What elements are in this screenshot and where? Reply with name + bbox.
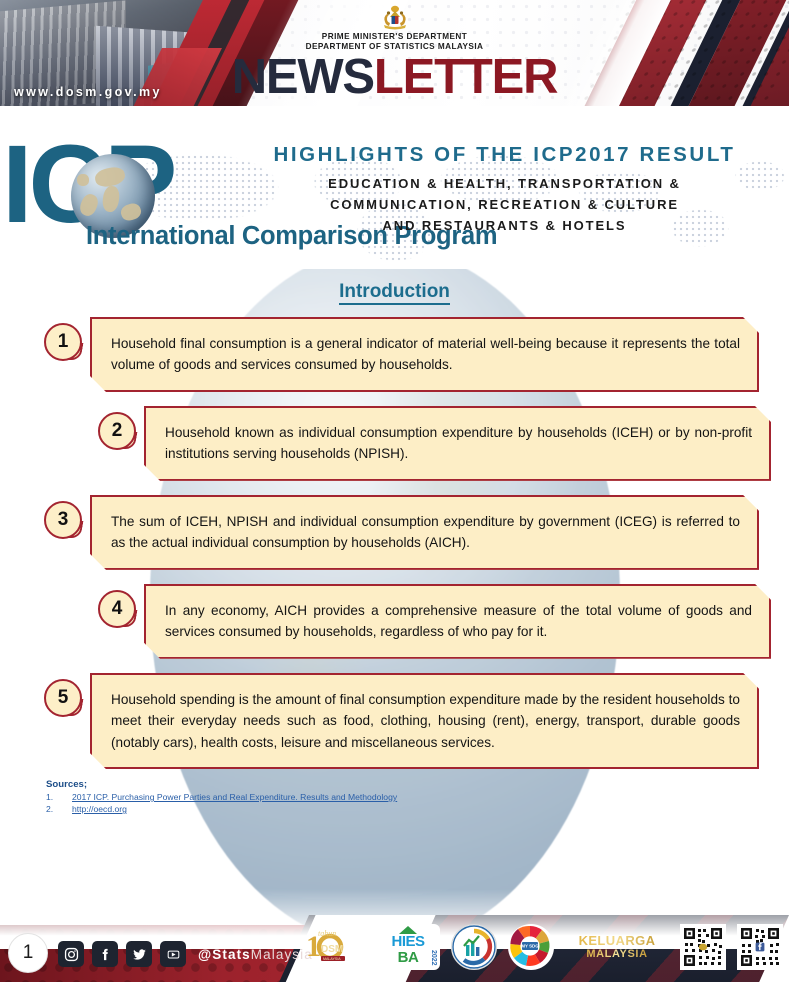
source-number-1: 1. — [46, 792, 72, 802]
twitter-icon[interactable] — [126, 941, 152, 967]
callout-list: 1 Household final consumption is a gener… — [0, 317, 789, 769]
callout-text-1: Household final consumption is a general… — [90, 317, 759, 392]
callout-number-1: 1 — [44, 323, 82, 361]
icp-subtitle-2: COMMUNICATION, RECREATION & CULTURE — [228, 194, 781, 215]
callout-text-2: Household known as individual consumptio… — [144, 406, 771, 481]
facebook-icon[interactable] — [92, 941, 118, 967]
callout-number-5: 5 — [44, 679, 82, 717]
callout-number-badge-4: 4 — [98, 590, 142, 630]
callout-item-5: 5 Household spending is the amount of fi… — [44, 673, 759, 769]
malaysia-coat-of-arms-icon — [378, 4, 412, 30]
social-handle-bold: @Stats — [198, 947, 251, 962]
newsletter-title-letter: LETTER — [374, 50, 557, 104]
header-center-block: PRIME MINISTER'S DEPARTMENT DEPARTMENT O… — [0, 4, 789, 101]
newsletter-title: NEWSLETTER — [0, 54, 789, 101]
social-handle: @StatsMalaysia — [198, 947, 313, 962]
icp-banner: ICP International Comparison Program HIG… — [0, 136, 789, 269]
page-number: 1 — [8, 933, 48, 973]
keluarga-label: KELUARGA — [579, 934, 656, 947]
hies-ba-2022-logo: HIES BA 2022 — [376, 924, 440, 970]
callout-item-1: 1 Household final consumption is a gener… — [44, 317, 759, 392]
callout-number-2: 2 — [98, 412, 136, 450]
callout-number-badge-1: 1 — [44, 323, 88, 363]
callout-number-badge-3: 3 — [44, 501, 88, 541]
sdg-wheel-logo: MY SDG — [508, 924, 554, 970]
header-banner: www.dosm.gov.my — [0, 0, 789, 106]
icp-main-title: HIGHLIGHTS OF THE ICP2017 RESULT — [228, 142, 781, 168]
callout-item-4: 4 In any economy, AICH provides a compre… — [98, 584, 771, 659]
hies-roof-icon — [399, 926, 417, 934]
hies-label: HIES — [391, 935, 424, 949]
sources-heading: Sources; — [46, 779, 789, 790]
section-heading-text: Introduction — [339, 281, 450, 305]
qr-code-facebook[interactable] — [737, 924, 783, 970]
footer-logos: 1 tahun DSM MALAYSIA HIES BA 2022 — [303, 923, 783, 971]
callout-number-3: 3 — [44, 501, 82, 539]
qr-code-website[interactable] — [680, 924, 726, 970]
svg-text:MY SDG: MY SDG — [521, 943, 539, 948]
sources-block: Sources; 1. 2017 ICP. Purchasing Power P… — [46, 779, 789, 814]
dept-line-1: PRIME MINISTER'S DEPARTMENT — [0, 32, 789, 42]
icp-subtitle-1: EDUCATION & HEALTH, TRANSPORTATION & — [228, 173, 781, 194]
newsletter-page: www.dosm.gov.my — [0, 0, 789, 982]
keluarga-malaysia-logo: KELUARGA MALAYSIA — [565, 927, 669, 967]
callout-text-5: Household spending is the amount of fina… — [90, 673, 759, 769]
source-link-1[interactable]: 2017 ICP. Purchasing Power Parties and R… — [72, 792, 397, 802]
svg-text:DSM: DSM — [321, 944, 343, 955]
hies-year-label: 2022 — [430, 950, 437, 966]
malaysia-label: MALAYSIA — [586, 948, 647, 960]
ba-label: BA — [398, 950, 419, 965]
instagram-icon[interactable] — [58, 941, 84, 967]
section-heading: Introduction — [0, 269, 789, 303]
mystats-circle-logo — [451, 924, 497, 970]
callout-item-2: 2 Household known as individual consumpt… — [98, 406, 771, 481]
callout-item-3: 3 The sum of ICEH, NPISH and individual … — [44, 495, 759, 570]
callout-number-badge-5: 5 — [44, 679, 88, 719]
icp-title-block: HIGHLIGHTS OF THE ICP2017 RESULT EDUCATI… — [228, 142, 781, 236]
callout-number-badge-2: 2 — [98, 412, 142, 452]
source-link-2[interactable]: http://oecd.org — [72, 804, 127, 814]
icp-subtitle-3: AND RESTAURANTS & HOTELS — [228, 215, 781, 236]
social-icons — [58, 941, 186, 967]
callout-text-3: The sum of ICEH, NPISH and individual co… — [90, 495, 759, 570]
youtube-icon[interactable] — [160, 941, 186, 967]
svg-text:MALAYSIA: MALAYSIA — [323, 957, 341, 961]
svg-text:tahun: tahun — [318, 929, 336, 938]
content-area: Introduction 1 Household final consumpti… — [0, 269, 789, 949]
dosm-10-years-logo: 1 tahun DSM MALAYSIA — [303, 923, 365, 971]
source-entry-2: 2. http://oecd.org — [46, 804, 789, 814]
source-number-2: 2. — [46, 804, 72, 814]
callout-number-4: 4 — [98, 590, 136, 628]
callout-text-4: In any economy, AICH provides a comprehe… — [144, 584, 771, 659]
icp-logo: ICP International Comparison Program — [2, 136, 252, 269]
source-entry-1: 1. 2017 ICP. Purchasing Power Parties an… — [46, 792, 789, 802]
newsletter-title-news: NEWS — [232, 50, 374, 104]
